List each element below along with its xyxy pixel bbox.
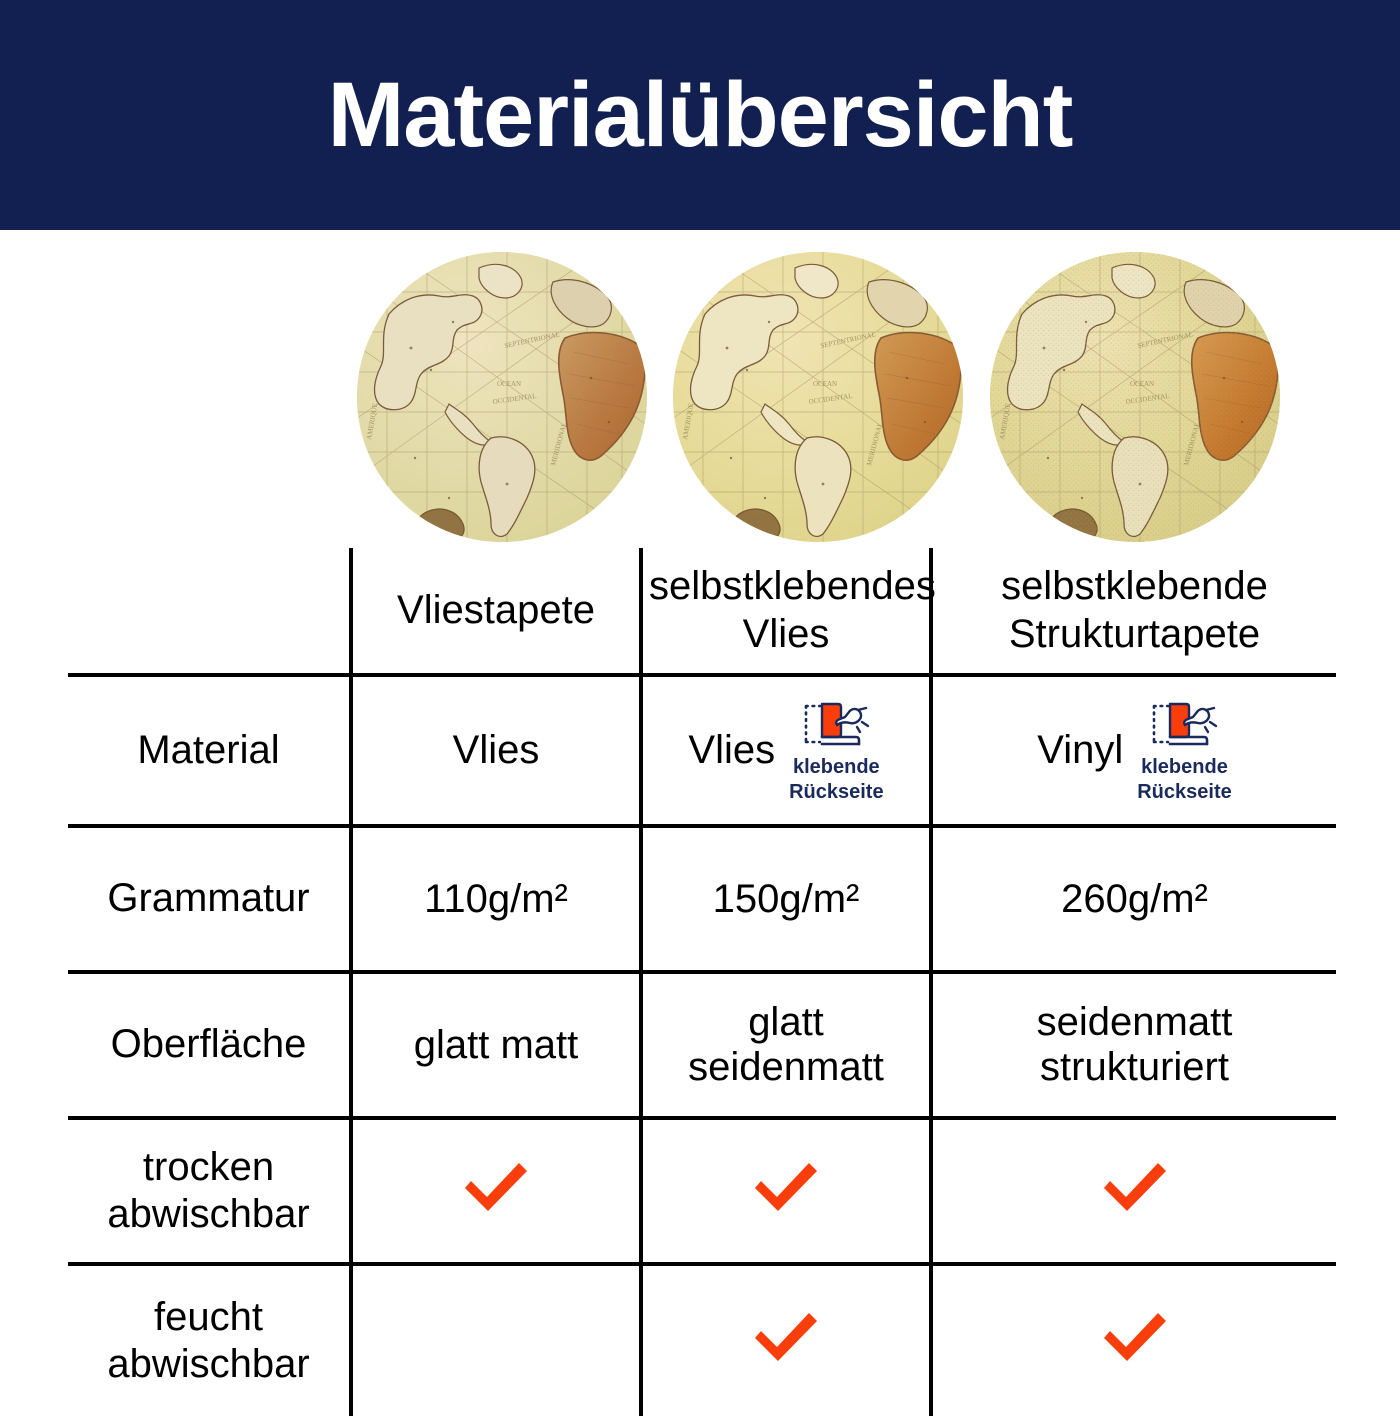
- table-row-grammatur: Grammatur 110g/m² 150g/m² 260g/m²: [68, 826, 1336, 972]
- cell-value: Vlies: [453, 728, 540, 772]
- table-row-oberflaeche: Oberfläche glatt matt glatt seidenmatt s…: [68, 972, 1336, 1118]
- checkmark-icon: [1098, 1305, 1172, 1367]
- table-row-material: Material Vlies Vlies: [68, 675, 1336, 826]
- swatch-strukturtapete: SEPTENTRIONAL OCEAN OCCIDENTAL MERIDIONA…: [990, 252, 1280, 542]
- cell-oberflaeche-strukturtapete: seidenmatt strukturiert: [931, 972, 1336, 1118]
- badge-line2: Rückseite: [1137, 782, 1232, 804]
- swatch-selbstklebendes-vlies: SEPTENTRIONAL OCEAN OCCIDENTAL MERIDIONA…: [673, 252, 963, 542]
- cell-oberflaeche-selbstklebendes-vlies: glatt seidenmatt: [641, 972, 931, 1118]
- header-banner: Materialübersicht: [0, 0, 1400, 230]
- svg-text:OCEAN: OCEAN: [497, 380, 521, 388]
- cell-feucht-strukturtapete: [931, 1264, 1336, 1416]
- cell-grammatur-strukturtapete: 260g/m²: [931, 826, 1336, 972]
- checkmark-icon: [1098, 1155, 1172, 1217]
- row-label-feucht-abwischbar: feucht abwischbar: [68, 1264, 351, 1416]
- header-cell-selbstklebendes-vlies: selbstklebendes Vlies: [641, 548, 931, 675]
- cell-feucht-vliestapete: [351, 1264, 641, 1416]
- checkmark-icon: [749, 1305, 823, 1367]
- swatch-row: SEPTENTRIONAL OCEAN OCCIDENTAL MERIDIONA…: [0, 252, 1400, 552]
- row-label-grammatur: Grammatur: [68, 826, 351, 972]
- swatch-vliestapete: SEPTENTRIONAL OCEAN OCCIDENTAL MERIDIONA…: [357, 252, 647, 542]
- table-row-trocken-abwischbar: trocken abwischbar: [68, 1118, 1336, 1264]
- cell-trocken-vliestapete: [351, 1118, 641, 1264]
- header-cell-strukturtapete: selbstklebende Strukturtapete: [931, 548, 1336, 675]
- row-label-trocken-abwischbar: trocken abwischbar: [68, 1118, 351, 1264]
- badge-line1: klebende: [793, 757, 880, 779]
- row-label-oberflaeche: Oberfläche: [68, 972, 351, 1118]
- table-header-row: Vliestapete selbstklebendes Vlies selbst…: [68, 548, 1336, 675]
- page-title: Materialübersicht: [328, 69, 1073, 161]
- svg-text:OCEAN: OCEAN: [813, 380, 837, 388]
- header-cell-vliestapete: Vliestapete: [351, 548, 641, 675]
- cell-value: Vlies: [688, 728, 775, 773]
- cell-material-vliestapete: Vlies: [351, 675, 641, 826]
- row-label-material: Material: [68, 675, 351, 826]
- cell-grammatur-selbstklebendes-vlies: 150g/m²: [641, 826, 931, 972]
- checkmark-icon: [749, 1155, 823, 1217]
- cell-grammatur-vliestapete: 110g/m²: [351, 826, 641, 972]
- cell-oberflaeche-vliestapete: glatt matt: [351, 972, 641, 1118]
- badge-line1: klebende: [1141, 757, 1228, 779]
- cell-trocken-strukturtapete: [931, 1118, 1336, 1264]
- cell-value: Vinyl: [1037, 728, 1123, 773]
- badge-line2: Rückseite: [789, 782, 884, 804]
- table-row-feucht-abwischbar: feucht abwischbar: [68, 1264, 1336, 1416]
- checkmark-icon: [459, 1155, 533, 1217]
- adhesive-backing-badge: klebende Rückseite: [789, 698, 884, 803]
- adhesive-backing-badge: klebende Rückseite: [1137, 698, 1232, 803]
- header-cell-blank: [68, 548, 351, 675]
- adhesive-backing-icon: [1148, 698, 1220, 754]
- cell-trocken-selbstklebendes-vlies: [641, 1118, 931, 1264]
- cell-material-selbstklebendes-vlies: Vlies: [641, 675, 931, 826]
- cell-material-strukturtapete: Vinyl klebende: [931, 675, 1336, 826]
- cell-feucht-selbstklebendes-vlies: [641, 1264, 931, 1416]
- material-comparison-table: Vliestapete selbstklebendes Vlies selbst…: [68, 548, 1336, 1416]
- adhesive-backing-icon: [800, 698, 872, 754]
- material-overview-page: Materialübersicht: [0, 0, 1400, 1400]
